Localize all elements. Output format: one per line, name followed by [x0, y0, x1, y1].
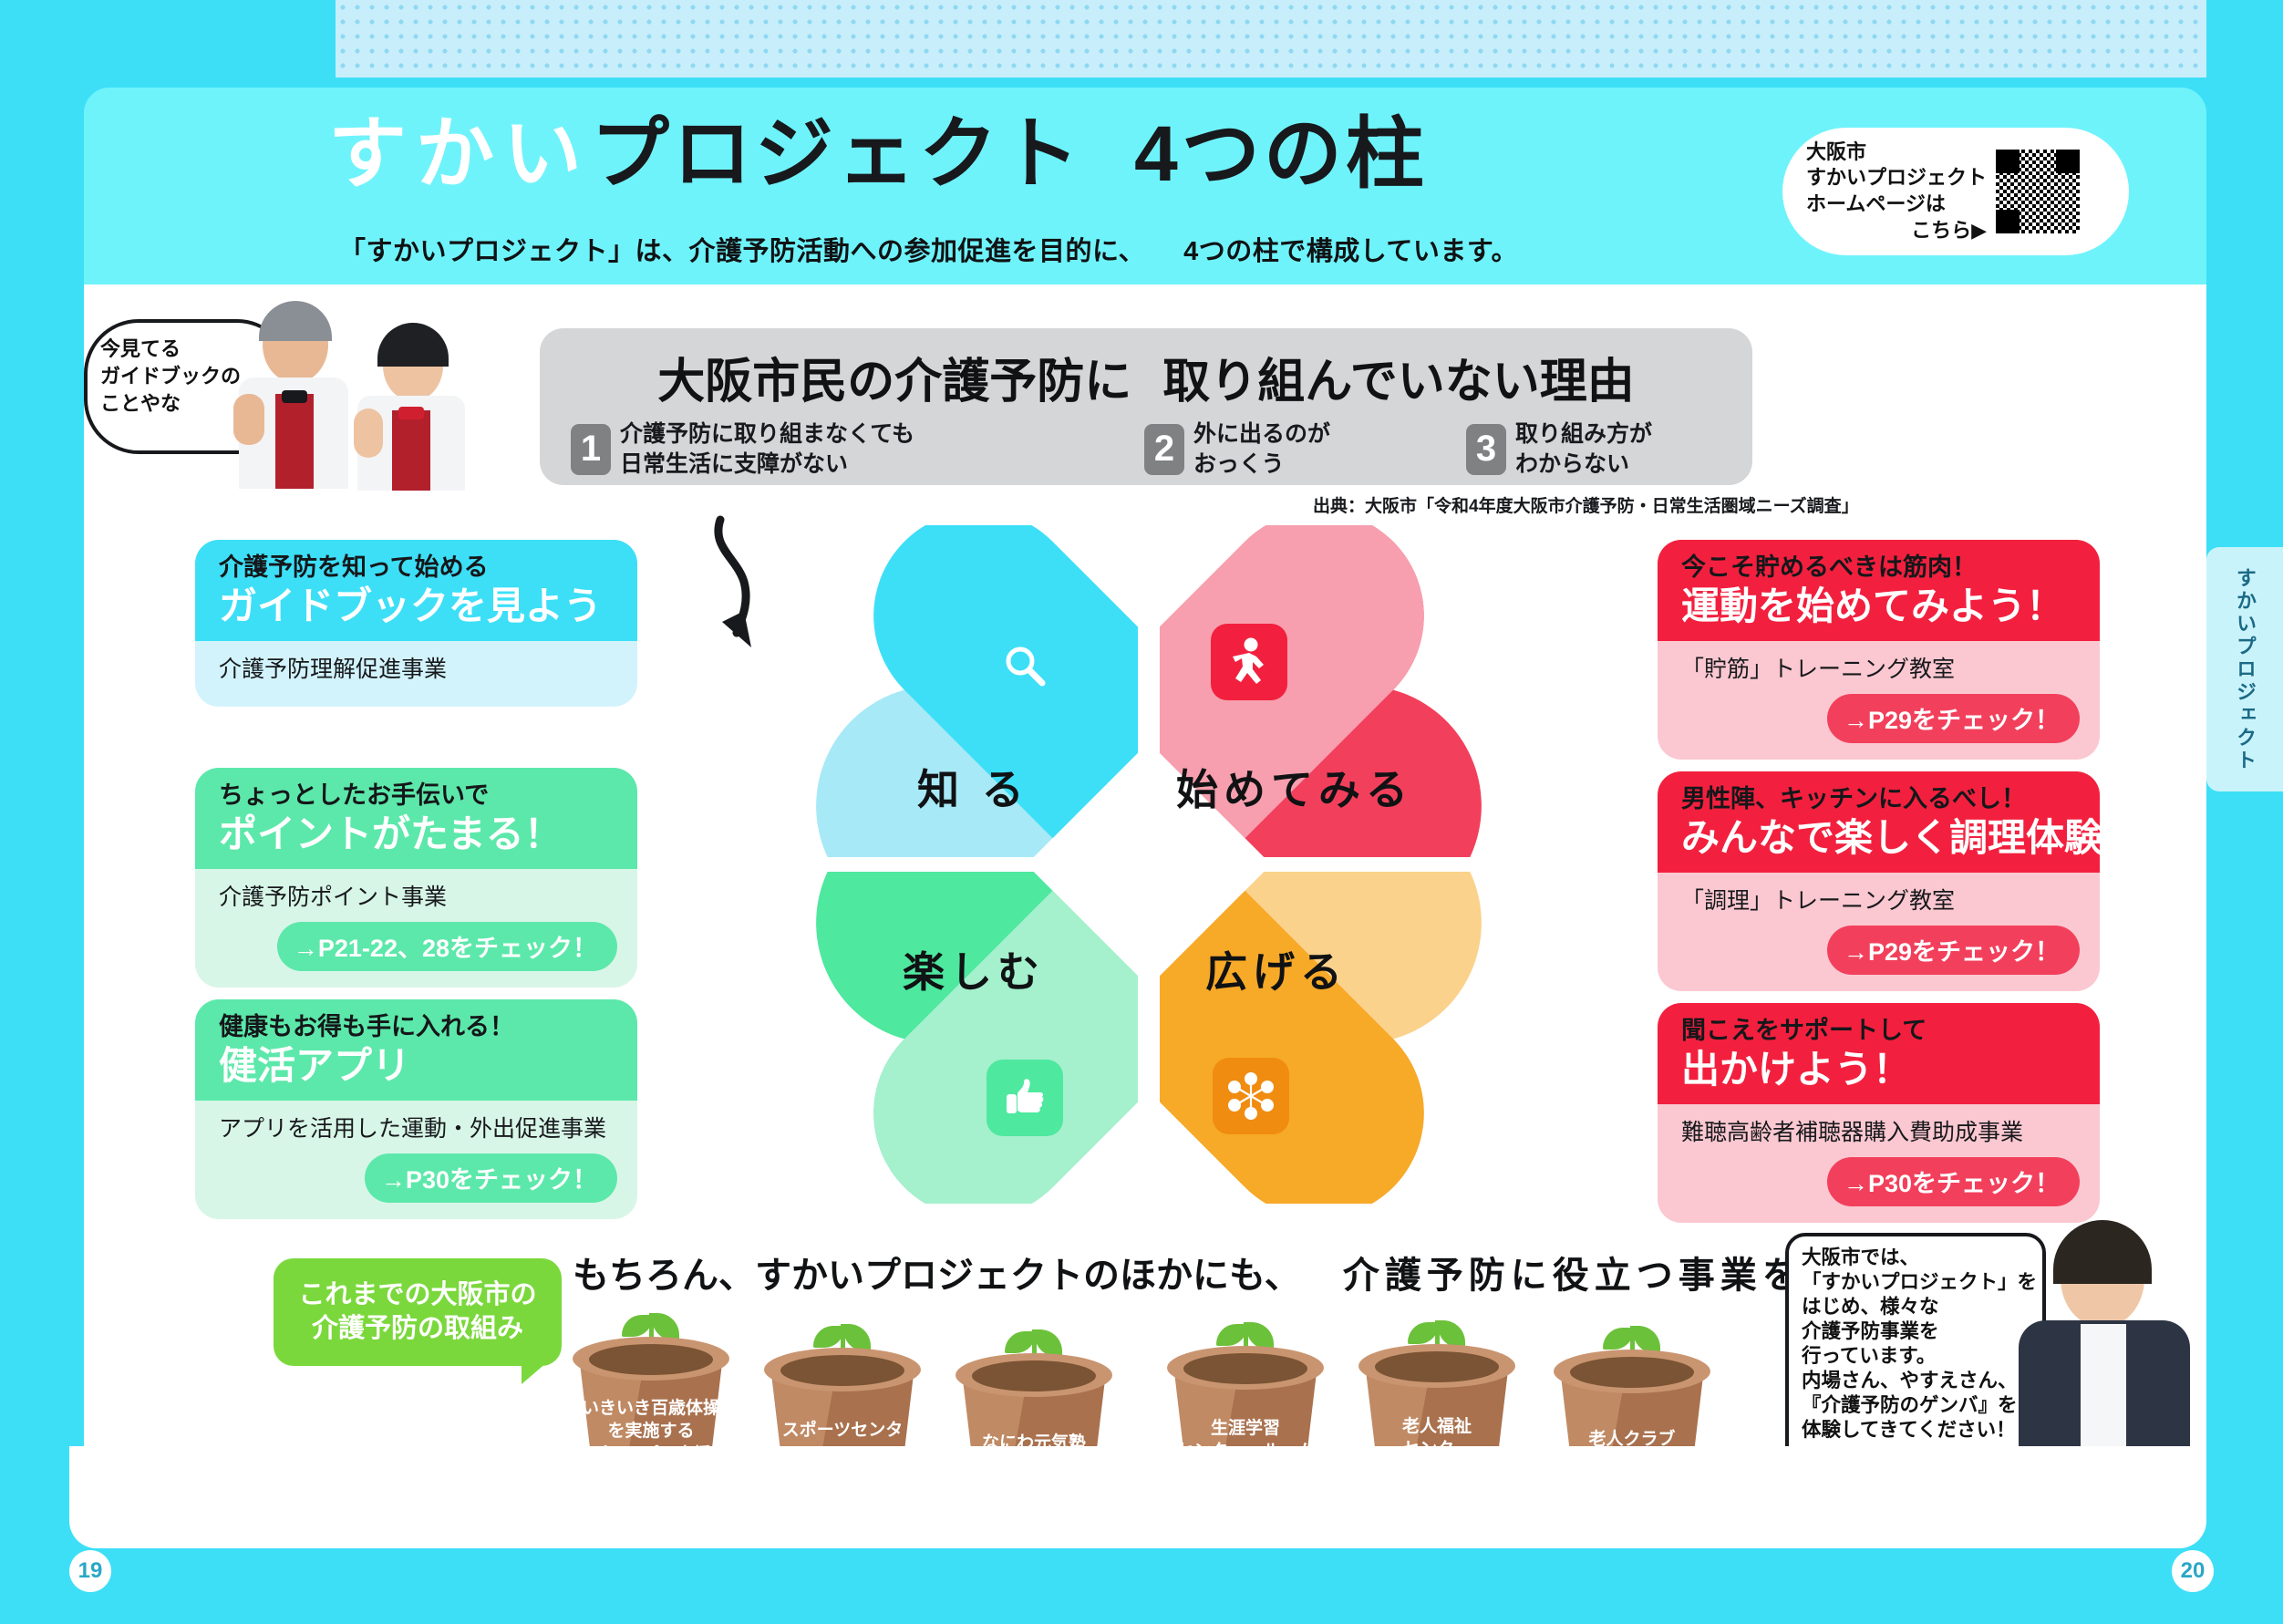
qr-line1: 大阪市 — [1806, 140, 1866, 163]
pot-4-line1: 生涯学習 — [1211, 1419, 1280, 1438]
bubble-right-line7: 『介護予防のゲンバ』を — [1802, 1394, 2018, 1416]
card-exercise-page-pill[interactable]: →P29をチェック！ — [1827, 694, 2080, 743]
card-cooking-title: みんなで楽しく調理体験 — [1681, 816, 2080, 860]
card-hearing-header: 聞こえをサポートして 出かけよう！ — [1658, 1003, 2100, 1104]
card-points[interactable]: ちょっとしたお手伝いで ポイントがたまる！ 介護予防ポイント事業 →P21-22… — [195, 768, 637, 988]
bubble-right-line2: 「すかいプロジェクト」を — [1802, 1271, 2037, 1293]
card-cooking-body: 「調理」トレーニング教室 →P29をチェック！ — [1658, 873, 2100, 991]
page-number-left: 19 — [69, 1550, 111, 1592]
qr-line3: ホームページは — [1806, 192, 1946, 215]
four-pillars-clover — [802, 525, 1495, 1204]
bottom-headline: もちろん、すかいプロジェクトのほかにも、介護予防に役立つ事業を実施中！ — [573, 1246, 1758, 1298]
card-cooking-sub: 「調理」トレーニング教室 — [1681, 887, 2080, 915]
clover-petal-enjoy[interactable] — [802, 872, 1138, 1204]
reason-text-1: 介護予防に取り組まなくても 日常生活に支障がない — [620, 419, 914, 479]
reason-item-1: 1 介護予防に取り組まなくても 日常生活に支障がない — [571, 419, 914, 479]
clover-petal-spread[interactable] — [1160, 872, 1495, 1204]
card-exercise-kicker: 今こそ貯めるべきは筋肉！ — [1681, 554, 2080, 582]
card-guidebook-sub: 介護予防理解促進事業 — [219, 656, 617, 683]
pot-5-line1: 老人福祉 — [1402, 1417, 1472, 1436]
survey-heading: 大阪市民の介護予防に取り組んでいない理由 — [540, 343, 1752, 411]
pot-1-line1: いきいき百歳体操 — [582, 1399, 720, 1418]
reason-item-2: 2 外に出るのが おっくう — [1144, 419, 1330, 479]
speech-bubble-right-text: 大阪市では、 「すかいプロジェクト」を はじめ、様々な 介護予防事業を 行ってい… — [1802, 1246, 2048, 1443]
dotted-band — [336, 0, 2283, 78]
card-health-app-title: 健活アプリ — [219, 1044, 617, 1088]
clover-label-enjoy: 楽しむ — [903, 939, 1045, 999]
network-icon — [1213, 1058, 1289, 1134]
bottom-headline-a: もちろん、すかいプロジェクトのほかにも、 — [573, 1256, 1301, 1296]
bubble-right-line5: 行っています。 — [1802, 1345, 1936, 1367]
thumbs-up-icon — [987, 1060, 1063, 1136]
character-yasue-photo — [357, 330, 465, 491]
card-health-app-page-pill[interactable]: →P30をチェック！ — [365, 1153, 617, 1203]
card-health-app-header: 健康もお得も手に入れる！ 健活アプリ — [195, 999, 637, 1101]
card-guidebook[interactable]: 介護予防を知って始める ガイドブックを見よう 介護予防理解促進事業 — [195, 540, 637, 707]
subtitle-part-b: 4つの柱で構成しています。 — [1183, 237, 1518, 266]
clover-label-start: 始めてみる — [1176, 757, 1413, 817]
card-points-sub: 介護予防ポイント事業 — [219, 884, 617, 911]
card-points-body: 介護予防ポイント事業 →P21-22、28をチェック！ — [195, 869, 637, 988]
past-initiatives-tag: これまでの大阪市の 介護予防の取組み — [274, 1258, 562, 1366]
card-guidebook-kicker: 介護予防を知って始める — [219, 554, 617, 582]
bubble-right-line4: 介護予防事業を — [1802, 1320, 1939, 1342]
side-tab-sukai-project[interactable]: すかいプロジェクト — [2206, 547, 2283, 791]
header-subtitle: 「すかいプロジェクト」は、介護予防活動への参加促進を目的に、4つの柱で構成してい… — [339, 230, 1689, 268]
card-exercise-header: 今こそ貯めるべきは筋肉！ 運動を始めてみよう！ — [1658, 540, 2100, 641]
walking-icon — [1211, 624, 1287, 700]
card-exercise-body: 「貯筋」トレーニング教室 →P29をチェック！ — [1658, 641, 2100, 760]
subtitle-part-a: 「すかいプロジェクト」は、介護予防活動への参加促進を目的に、 — [339, 237, 1145, 266]
reason-item-3: 3 取り組み方が わからない — [1466, 419, 1652, 479]
card-points-header: ちょっとしたお手伝いで ポイントがたまる！ — [195, 768, 637, 869]
card-cooking-page-pill[interactable]: →P29をチェック！ — [1827, 926, 2080, 975]
survey-heading-right: 取り組んでいない理由 — [1162, 356, 1634, 409]
side-tab-label: すかいプロジェクト — [2230, 567, 2259, 772]
card-hearing-body: 難聴高齢者補聴器購入費助成事業 →P30をチェック！ — [1658, 1104, 2100, 1223]
title-project: プロジェクト — [591, 110, 1083, 198]
card-exercise-title: 運動を始めてみよう！ — [1681, 584, 2080, 628]
sprout-leaf-left-icon — [813, 1326, 844, 1348]
card-hearing[interactable]: 聞こえをサポートして 出かけよう！ 難聴高齢者補聴器購入費助成事業 →P30をチ… — [1658, 1003, 2100, 1223]
reason-text-3: 取り組み方が わからない — [1515, 419, 1652, 479]
bubble-right-line3: はじめ、様々な — [1802, 1296, 1939, 1318]
bubble-left-line3: ことやな — [100, 392, 181, 415]
reason-3-line1: 取り組み方が — [1515, 421, 1652, 447]
clover-label-know: 知 る — [917, 757, 1029, 817]
card-hearing-kicker: 聞こえをサポートして — [1681, 1018, 2080, 1045]
clover-label-spread: 広げる — [1205, 939, 1348, 999]
curved-arrow-icon — [702, 511, 811, 657]
card-guidebook-body: 介護予防理解促進事業 — [195, 641, 637, 707]
reason-rank-3: 3 — [1466, 424, 1506, 475]
card-health-app-sub: アプリを活用した運動・外出促進事業 — [219, 1115, 617, 1143]
bubble-right-line8: 体験してきてください！ — [1802, 1419, 2016, 1441]
reason-rank-1: 1 — [571, 424, 611, 475]
card-cooking-header: 男性陣、キッチンに入るべし！ みんなで楽しく調理体験 — [1658, 771, 2100, 873]
page-title: すかいプロジェクト4つの柱 — [328, 115, 1696, 193]
right-edge-band — [2206, 0, 2283, 1624]
qr-homepage-box[interactable]: 大阪市 すかいプロジェクト ホームページは こちら▶ — [1782, 128, 2129, 255]
bubble-right-line1: 大阪市では、 — [1802, 1246, 1919, 1268]
sprout-leaf-left-icon — [1216, 1324, 1247, 1346]
card-cooking-kicker: 男性陣、キッチンに入るべし！ — [1681, 786, 2080, 813]
survey-source-note: 出典：大阪市「令和4年度大阪市介護予防・日常生活圏域ニーズ調査」 — [1313, 492, 1760, 517]
green-tag-line1: これまでの大阪市の — [298, 1278, 536, 1312]
left-edge-band — [0, 0, 84, 1624]
card-exercise[interactable]: 今こそ貯めるべきは筋肉！ 運動を始めてみよう！ 「貯筋」トレーニング教室 →P2… — [1658, 540, 2100, 760]
card-guidebook-title: ガイドブックを見よう — [219, 584, 617, 628]
sprout-leaf-left-icon — [622, 1315, 653, 1337]
card-hearing-title: 出かけよう！ — [1681, 1048, 2080, 1091]
title-sukai: すかい — [328, 110, 591, 198]
sprout-leaf-left-icon — [1005, 1331, 1036, 1353]
card-health-app-body: アプリを活用した運動・外出促進事業 →P30をチェック！ — [195, 1101, 637, 1219]
magnifier-icon — [987, 627, 1063, 704]
card-health-app-kicker: 健康もお得も手に入れる！ — [219, 1014, 617, 1041]
bubble-left-line1: 今見てる — [100, 337, 181, 360]
qr-code-icon[interactable] — [1996, 150, 2080, 233]
card-health-app[interactable]: 健康もお得も手に入れる！ 健活アプリ アプリを活用した運動・外出促進事業 →P3… — [195, 999, 637, 1219]
guidebook-page: すかいプロジェクト4つの柱 「すかいプロジェクト」は、介護予防活動への参加促進を… — [0, 0, 2283, 1624]
reason-text-2: 外に出るのが おっくう — [1193, 419, 1330, 479]
card-hearing-page-pill[interactable]: →P30をチェック！ — [1827, 1157, 2080, 1206]
reason-2-line2: おっくう — [1193, 451, 1285, 477]
card-hearing-sub: 難聴高齢者補聴器購入費助成事業 — [1681, 1119, 2080, 1146]
card-points-title: ポイントがたまる！ — [219, 812, 617, 856]
title-four-pillars: 4つの柱 — [1134, 110, 1428, 198]
qr-line2: すかいプロジェクト — [1806, 166, 1987, 189]
reason-1-line2: 日常生活に支障がない — [620, 451, 848, 477]
sprout-leaf-left-icon — [1603, 1328, 1634, 1350]
page-number-right: 20 — [2172, 1550, 2214, 1592]
reason-rank-2: 2 — [1144, 424, 1184, 475]
survey-heading-left: 大阪市民の介護予防に — [657, 356, 1131, 409]
bottom-white-rounded — [69, 1446, 2206, 1548]
qr-line4: こちら▶ — [1806, 218, 1987, 244]
reason-1-line1: 介護予防に取り組まなくても — [620, 421, 914, 447]
card-exercise-sub: 「貯筋」トレーニング教室 — [1681, 656, 2080, 683]
pot-1-line2: を実施する — [607, 1422, 694, 1441]
qr-caption: 大阪市 すかいプロジェクト ホームページは こちら▶ — [1806, 140, 1987, 243]
bubble-right-line6: 内場さん、やすえさん、 — [1802, 1370, 2018, 1391]
card-points-page-pill[interactable]: →P21-22、28をチェック！ — [277, 922, 617, 971]
card-guidebook-header: 介護予防を知って始める ガイドブックを見よう — [195, 540, 637, 641]
bubble-left-line2: ガイドブックの — [100, 365, 241, 388]
green-tag-line2: 介護予防の取組み — [312, 1312, 523, 1346]
sprout-leaf-left-icon — [1408, 1322, 1439, 1344]
character-uchiba-photo — [239, 306, 348, 489]
reason-3-line2: わからない — [1515, 451, 1629, 477]
card-cooking[interactable]: 男性陣、キッチンに入るべし！ みんなで楽しく調理体験 「調理」トレーニング教室 … — [1658, 771, 2100, 991]
reason-2-line1: 外に出るのが — [1193, 421, 1330, 447]
card-points-kicker: ちょっとしたお手伝いで — [219, 782, 617, 810]
